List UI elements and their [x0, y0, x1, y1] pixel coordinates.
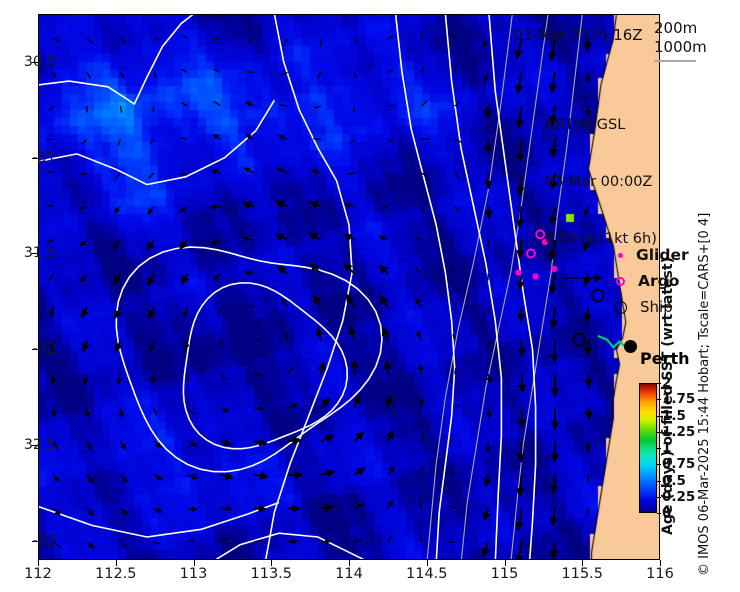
current-vector — [211, 240, 220, 244]
current-vector — [421, 207, 424, 212]
current-vector — [421, 66, 424, 73]
current-vector — [87, 542, 94, 549]
current-vector — [420, 535, 422, 542]
current-vector — [312, 170, 321, 173]
current-vector — [243, 238, 254, 240]
current-vector — [313, 139, 321, 140]
current-vector — [47, 171, 54, 173]
current-vector — [485, 508, 489, 520]
glider-marker-icon — [618, 253, 623, 258]
current-vector — [221, 408, 229, 412]
current-vector — [421, 139, 428, 140]
ssh-contour — [445, 14, 501, 560]
current-vector — [85, 374, 87, 384]
current-vector — [182, 70, 188, 73]
current-vector — [54, 475, 60, 482]
current-vector — [388, 36, 393, 39]
current-vector — [187, 475, 197, 479]
legend-item-glider[interactable]: Glider — [612, 246, 689, 264]
current-vector — [87, 39, 93, 43]
perth-city-marker — [624, 340, 637, 353]
current-vector — [354, 72, 356, 78]
current-vector — [221, 508, 232, 509]
y-tick-label-0: 30.5 — [24, 54, 56, 70]
current-vector — [487, 106, 488, 118]
current-vector — [49, 274, 54, 281]
current-vector — [87, 72, 90, 78]
current-vector — [449, 506, 455, 508]
ship-observation — [573, 334, 585, 346]
current-vector — [388, 70, 394, 73]
current-vector — [87, 408, 88, 418]
ssh-contour — [489, 14, 536, 560]
x-tick-label-2: 113 — [180, 566, 208, 582]
current-vector — [553, 542, 555, 559]
current-vector — [309, 233, 321, 240]
current-vector — [321, 399, 329, 408]
current-vector — [49, 106, 53, 110]
ship-marker-icon — [614, 301, 627, 314]
current-vector — [519, 106, 522, 128]
current-vector — [288, 508, 301, 509]
depth-legend-line — [654, 60, 696, 62]
current-vector — [451, 34, 455, 39]
current-vector — [221, 475, 233, 478]
current-vector — [321, 436, 333, 442]
current-vector — [120, 542, 127, 548]
current-vector — [148, 207, 154, 215]
current-vector — [388, 105, 394, 106]
current-vector — [278, 266, 288, 273]
current-vector — [588, 475, 589, 483]
current-vector — [415, 268, 421, 274]
current-vector — [120, 475, 127, 482]
current-vector — [383, 328, 388, 341]
current-vector — [345, 204, 354, 206]
current-vector — [278, 168, 288, 173]
current-vector — [114, 274, 120, 285]
current-vector — [180, 207, 188, 213]
current-vector — [346, 294, 354, 307]
current-vector — [488, 341, 490, 348]
current-vector — [388, 536, 392, 542]
current-vector — [520, 240, 522, 258]
current-vector — [520, 207, 522, 228]
glider-track — [598, 336, 626, 347]
x-tick-label-7: 115.5 — [561, 566, 603, 582]
current-vector — [421, 399, 422, 408]
current-vector — [181, 138, 188, 140]
current-vector — [518, 72, 522, 93]
current-vector — [521, 441, 522, 462]
current-vector — [310, 202, 321, 207]
current-vector — [452, 301, 455, 308]
current-vector — [187, 508, 197, 510]
current-vector — [388, 396, 391, 408]
current-vector — [455, 404, 459, 408]
current-vector — [421, 101, 427, 106]
current-vector — [553, 508, 555, 525]
current-vector — [118, 374, 120, 384]
current-vector — [452, 268, 455, 274]
current-vector — [388, 431, 393, 441]
ssh-contour — [265, 14, 352, 560]
current-vector — [380, 236, 388, 240]
copyright-credit: © IMOS 06-Mar-2025 15:44 Hobart; Tscale=… — [697, 213, 712, 576]
current-vector — [288, 440, 301, 441]
current-vector — [184, 307, 187, 317]
x-tick-label-4: 114 — [335, 566, 363, 582]
current-vector — [54, 39, 60, 41]
current-vector — [47, 240, 54, 242]
current-vector — [246, 102, 254, 106]
current-vector — [484, 542, 488, 556]
current-vector — [187, 408, 193, 414]
current-vector — [522, 408, 523, 428]
current-vector — [555, 441, 556, 461]
argo-observation — [527, 249, 535, 257]
current-vector — [182, 274, 188, 284]
current-vector — [214, 101, 221, 106]
current-vector — [51, 307, 54, 316]
depth-legend-1000m: 1000m — [654, 38, 707, 56]
current-vector — [213, 135, 220, 140]
current-vector — [54, 408, 56, 417]
current-vector — [281, 72, 288, 75]
current-legend-line2: 03-Mar 00:00Z — [545, 173, 657, 192]
x-tick-label-0: 112 — [24, 566, 52, 582]
current-vector — [276, 201, 288, 206]
current-vector — [421, 173, 427, 176]
current-vector — [354, 106, 355, 112]
current-vector — [350, 140, 355, 144]
current-vector — [314, 295, 322, 307]
current-vector — [279, 105, 287, 106]
current-vector — [588, 341, 589, 355]
current-vector — [221, 341, 223, 348]
current-vector — [354, 468, 364, 475]
current-vector — [318, 328, 321, 341]
current-vector — [518, 542, 522, 560]
current-vector — [221, 374, 226, 380]
current-vector — [80, 173, 87, 175]
current-vector — [154, 408, 157, 416]
current-vector — [87, 475, 93, 483]
current-vector — [520, 173, 522, 195]
current-vector — [354, 539, 362, 542]
current-vector — [120, 72, 124, 78]
current-vector — [347, 173, 354, 174]
current-vector — [321, 472, 334, 475]
current-vector — [118, 140, 120, 146]
current-vector — [114, 240, 121, 249]
depth-legend-200m: 200m — [654, 19, 697, 37]
current-vector — [455, 173, 460, 179]
current-vector — [354, 504, 363, 508]
current-vector — [147, 240, 153, 250]
current-vector — [80, 240, 87, 246]
current-vector — [187, 441, 196, 446]
current-vector — [182, 103, 188, 106]
current-vector — [522, 374, 523, 392]
argo-observation — [536, 230, 544, 238]
glider-observation — [532, 273, 538, 279]
ssh-contour — [396, 14, 455, 560]
current-vector — [314, 106, 321, 108]
current-vector — [483, 39, 488, 47]
ssh-contour — [38, 14, 194, 104]
current-vector — [421, 433, 423, 441]
current-vector — [520, 274, 522, 290]
current-vector — [520, 140, 522, 162]
current-vector — [488, 408, 489, 418]
current-vector — [379, 266, 388, 274]
current-vector — [248, 306, 254, 308]
current-vector — [350, 326, 354, 340]
current-vector — [254, 408, 264, 410]
current-vector — [388, 466, 394, 474]
current-vector — [214, 274, 221, 281]
current-vector — [148, 274, 154, 286]
current-vector — [83, 341, 87, 352]
current-vector — [317, 72, 321, 78]
current-vector — [485, 72, 488, 82]
x-tick-label-6: 115 — [491, 566, 519, 582]
current-vector — [149, 307, 154, 318]
current-vector — [254, 441, 267, 443]
current-vector — [344, 264, 354, 274]
y-tick-label-4: 32.5 — [24, 437, 56, 453]
y-tick-label-3: -32 — [32, 341, 56, 357]
current-vector — [46, 205, 53, 207]
reference-arrow-icon — [563, 270, 603, 286]
current-vector — [354, 39, 358, 44]
ssh-contour — [38, 100, 274, 184]
current-vector — [286, 332, 287, 341]
current-vector — [381, 296, 388, 307]
current-vector — [180, 173, 188, 175]
current-vector — [388, 501, 393, 508]
current-vector — [187, 539, 194, 542]
current-vector — [153, 374, 154, 383]
current-vector — [246, 72, 254, 73]
ssh-contour — [38, 503, 279, 538]
current-vector — [187, 374, 188, 382]
current-vector — [120, 508, 127, 514]
current-vector — [80, 207, 87, 210]
current-vector — [254, 374, 261, 375]
current-vector — [154, 542, 161, 544]
current-vector — [279, 136, 288, 140]
current-vector — [218, 307, 221, 315]
current-vector — [154, 475, 163, 480]
current-vector — [416, 299, 422, 307]
current-vector — [587, 508, 588, 515]
current-vector — [488, 173, 489, 188]
current-vector — [354, 396, 360, 408]
current-vector — [221, 538, 228, 542]
current-vector — [81, 274, 87, 283]
colorbar-gradient — [640, 384, 656, 512]
current-vector — [254, 508, 266, 509]
current-vector — [282, 299, 288, 307]
current-vector — [554, 341, 555, 363]
ssh-contour — [116, 247, 382, 472]
current-vector — [276, 234, 288, 240]
current-vector — [186, 341, 187, 350]
current-vector — [150, 341, 154, 351]
current-vector — [115, 173, 120, 178]
current-vector — [421, 467, 423, 475]
current-vector — [82, 307, 87, 317]
current-vector — [354, 432, 363, 441]
current-vector — [114, 207, 120, 214]
current-vector — [248, 39, 254, 42]
current-vector — [488, 307, 489, 313]
y-tick-label-2: 31.5 — [24, 245, 56, 261]
current-vector — [284, 39, 288, 46]
current-vector — [421, 32, 422, 39]
current-vector — [120, 441, 125, 449]
colorbar — [639, 383, 657, 513]
current-vector — [254, 475, 268, 477]
current-vector — [354, 360, 355, 374]
current-vector — [321, 507, 333, 508]
date-stamp: 03-Mar-2025 16Z — [513, 26, 643, 44]
current-vector — [488, 374, 490, 383]
current-vector — [244, 168, 254, 173]
x-tick-label-5: 114.5 — [406, 566, 448, 582]
x-tick-label-1: 112.5 — [95, 566, 137, 582]
ssh-contour — [209, 533, 372, 560]
current-vector — [214, 38, 221, 39]
current-vector — [214, 70, 221, 73]
ocean-sst-age-map: 03-Mar-2025 16Z 200m 1000m NRT00 GSL 03-… — [0, 0, 740, 592]
current-vector — [150, 140, 154, 145]
current-vector — [221, 441, 232, 445]
current-vector — [211, 207, 221, 208]
current-vector — [420, 365, 421, 375]
colorbar-axis-label: Age (days) of filled SST (wrt latest) — [660, 257, 676, 535]
current-vector — [154, 508, 162, 512]
current-vector — [288, 404, 298, 407]
current-vector — [87, 441, 91, 450]
y-tick-label-1: -31 — [32, 150, 56, 166]
current-vector — [245, 272, 254, 274]
current-vector — [153, 106, 154, 112]
current-vector — [448, 542, 455, 543]
current-vector — [154, 72, 156, 77]
current-vector — [87, 508, 94, 515]
current-vector — [183, 35, 188, 39]
x-tick-label-3: 113.5 — [250, 566, 292, 582]
current-vector — [415, 238, 421, 240]
current-vector — [120, 408, 122, 417]
current-vector — [418, 331, 422, 341]
current-vector — [381, 207, 388, 209]
y-tick-label-5: -33 — [32, 533, 56, 549]
current-vector — [120, 39, 126, 43]
current-vector — [387, 361, 388, 374]
current-vector — [388, 140, 393, 143]
current-vector — [455, 207, 460, 212]
current-vector — [82, 140, 87, 144]
x-tick-label-8: 116 — [646, 566, 674, 582]
current-vector — [243, 203, 254, 207]
argo-marker-icon — [616, 277, 625, 286]
current-vector — [288, 367, 293, 374]
current-vector — [486, 475, 488, 486]
current-vector — [120, 106, 121, 113]
current-vector — [212, 170, 221, 173]
current-vector — [149, 173, 154, 179]
glider-observation — [515, 269, 521, 275]
current-vector — [554, 475, 555, 494]
current-vector — [321, 362, 324, 374]
current-vector — [451, 471, 455, 475]
current-vector — [518, 508, 521, 530]
current-vector — [54, 72, 57, 77]
current-vector — [521, 307, 522, 321]
current-vector — [488, 207, 489, 219]
current-legend-line1: NRT00 GSL — [545, 116, 657, 135]
